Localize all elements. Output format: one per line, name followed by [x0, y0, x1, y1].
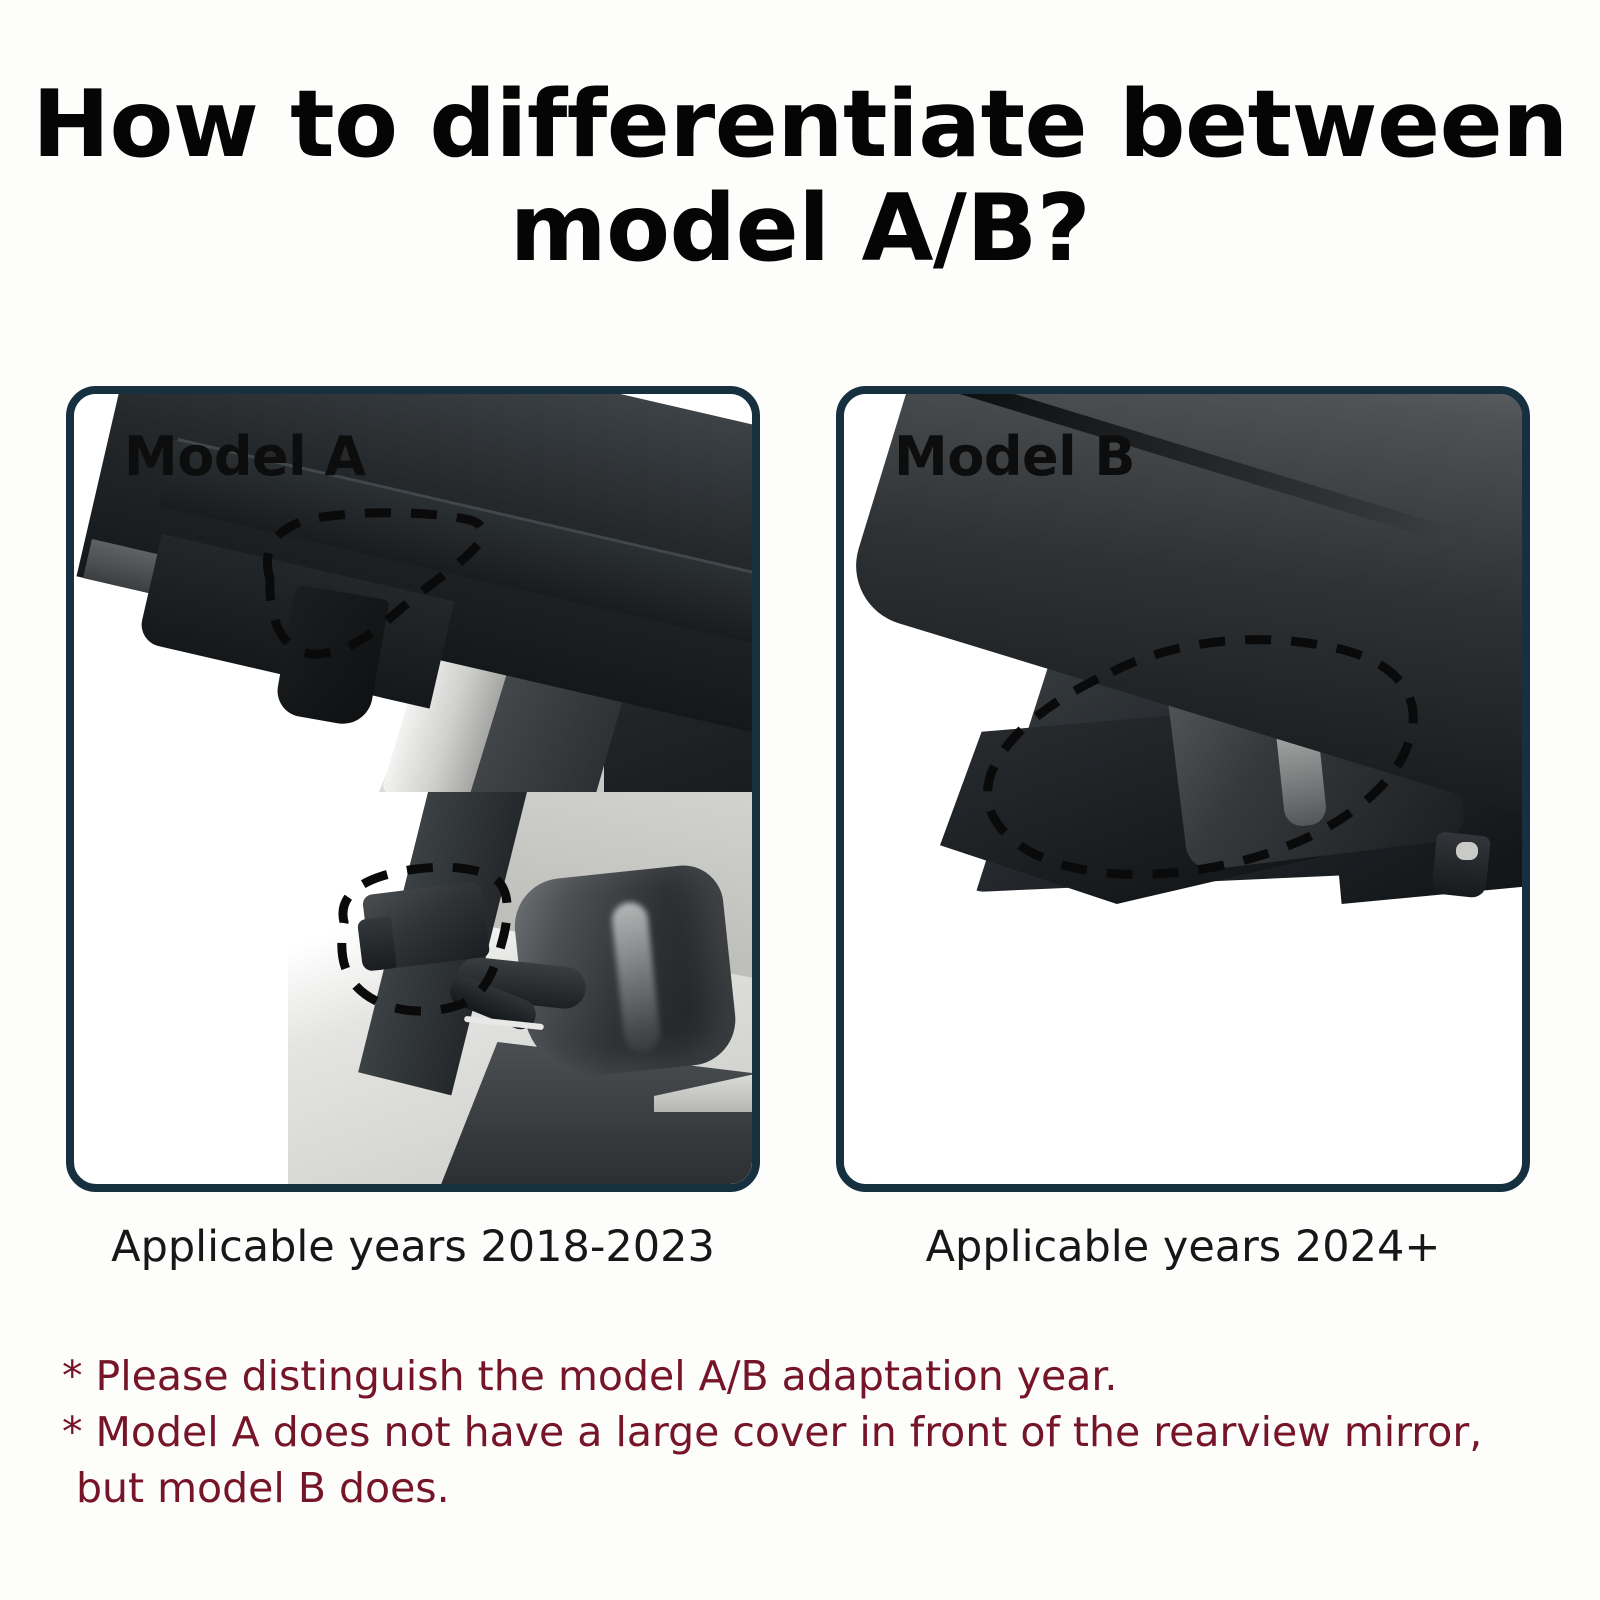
page-title-line-2: model A/B? [0, 176, 1600, 280]
notes-block: * Please distinguish the model A/B adapt… [62, 1348, 1562, 1516]
model-a-caption: Applicable years 2018-2023 [66, 1222, 760, 1272]
model-b-photo [844, 394, 1522, 1184]
model-b-caption: Applicable years 2024+ [836, 1222, 1530, 1272]
note-line-2: * Model A does not have a large cover in… [62, 1404, 1562, 1460]
page-title-line-1: How to differentiate between [0, 72, 1600, 176]
note-line-2-continuation: but model B does. [62, 1460, 1562, 1516]
model-b-label: Model B [894, 430, 1135, 484]
small-camera-housing-face [357, 916, 397, 972]
note-line-1: * Please distinguish the model A/B adapt… [62, 1348, 1562, 1404]
model-a-panel[interactable]: Model A [66, 386, 760, 1192]
model-b-panel[interactable]: Model B [836, 386, 1530, 1192]
model-a-lower-photo [288, 792, 752, 1184]
page-title: How to differentiate between model A/B? [0, 72, 1600, 280]
model-a-label: Model A [124, 430, 366, 484]
cover-tab-highlight [1456, 842, 1478, 860]
